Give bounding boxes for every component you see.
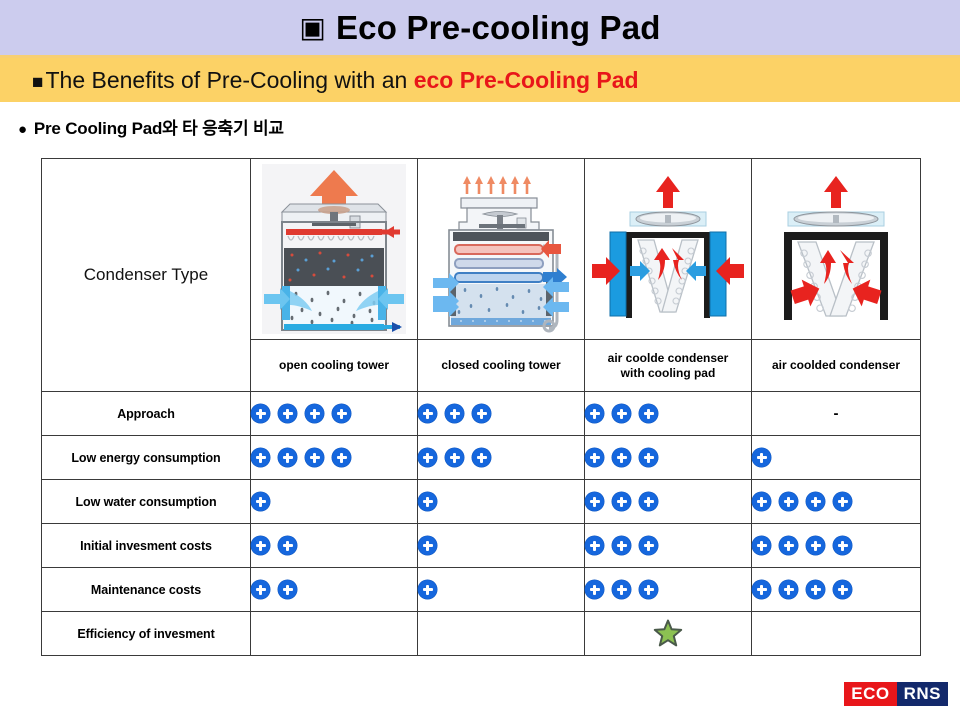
row-label-5: Efficiency of invesment <box>42 612 251 656</box>
cell-r2-c2 <box>585 480 752 524</box>
plus-icon <box>833 580 852 599</box>
plus-icon <box>251 448 270 467</box>
title-bar: ▣Eco Pre-cooling Pad <box>0 0 960 55</box>
rating-badges <box>752 492 920 511</box>
plus-icon <box>305 404 324 423</box>
plus-icon <box>332 448 351 467</box>
table-row: Efficiency of invesment <box>42 612 921 656</box>
benefits-banner: ■The Benefits of Pre-Cooling with an eco… <box>0 55 960 102</box>
diagram-cell-closed-cooling-tower <box>418 159 585 340</box>
row-label-1: Low energy consumption <box>42 436 251 480</box>
plus-icon <box>251 492 270 511</box>
cell-r3-c0 <box>251 524 418 568</box>
column-header-line1: air coolded condenser <box>755 358 917 373</box>
diagram-cell-air-cooled-condenser <box>752 159 921 340</box>
plus-icon <box>585 448 604 467</box>
rating-dash: - <box>752 392 921 436</box>
page-title: ▣Eco Pre-cooling Pad <box>299 9 660 47</box>
rating-badges <box>418 580 584 599</box>
column-header-air-cooled-condenser: air coolded condenser <box>752 340 921 392</box>
cell-r3-c3 <box>752 524 921 568</box>
rating-badges <box>251 536 417 555</box>
plus-icon <box>752 536 771 555</box>
plus-icon <box>779 580 798 599</box>
plus-icon <box>585 404 604 423</box>
diagram-cell-condenser-with-pad <box>585 159 752 340</box>
cell-r4-c1 <box>418 568 585 612</box>
plus-icon <box>445 404 464 423</box>
cell-r1-c3 <box>752 436 921 480</box>
closed-cooling-tower-diagram <box>418 160 584 338</box>
plus-icon <box>585 492 604 511</box>
plus-icon <box>332 404 351 423</box>
plus-icon <box>278 536 297 555</box>
plus-icon <box>251 404 270 423</box>
rating-badges <box>418 492 584 511</box>
column-header-line1: open cooling tower <box>254 358 414 373</box>
cell-r2-c1 <box>418 480 585 524</box>
column-header-condenser-with-pad: air coolde condenser with cooling pad <box>585 340 752 392</box>
plus-icon <box>806 580 825 599</box>
rating-badges <box>251 492 417 511</box>
plus-icon <box>752 448 771 467</box>
cell-r4-c0 <box>251 568 418 612</box>
plus-icon <box>278 580 297 599</box>
plus-icon <box>806 492 825 511</box>
rating-badges <box>418 448 584 467</box>
plus-icon <box>612 580 631 599</box>
star-cell <box>585 612 752 656</box>
banner-text: ■The Benefits of Pre-Cooling with an eco… <box>32 67 639 94</box>
plus-icon <box>612 404 631 423</box>
plus-icon <box>639 404 658 423</box>
column-header-line1: air coolde condenser <box>588 351 748 366</box>
plus-icon <box>472 448 491 467</box>
plus-icon <box>639 580 658 599</box>
subtitle-dot-icon: ● <box>18 121 27 138</box>
column-header-closed-cooling-tower: closed cooling tower <box>418 340 585 392</box>
plus-icon <box>612 448 631 467</box>
plus-icon <box>752 492 771 511</box>
plus-icon <box>418 492 437 511</box>
cell-r4-c3 <box>752 568 921 612</box>
plus-icon <box>639 448 658 467</box>
plus-icon <box>418 580 437 599</box>
cell-empty-r5-c3 <box>752 612 921 656</box>
plus-icon <box>418 448 437 467</box>
table-row: Maintenance costs <box>42 568 921 612</box>
rating-badges <box>585 536 751 555</box>
rating-badges <box>752 580 920 599</box>
plus-icon <box>278 404 297 423</box>
logo-rns-text: RNS <box>897 682 948 706</box>
air-cooled-condenser-diagram <box>752 160 920 338</box>
rating-badges <box>251 404 417 423</box>
column-header-line2: with cooling pad <box>588 366 748 381</box>
table-row: Initial invesment costs <box>42 524 921 568</box>
eco-rns-logo: ECO RNS <box>844 682 948 706</box>
cell-r3-c1 <box>418 524 585 568</box>
cell-r1-c1 <box>418 436 585 480</box>
cell-r2-c3 <box>752 480 921 524</box>
plus-icon <box>779 492 798 511</box>
plus-icon <box>445 448 464 467</box>
plus-icon <box>585 536 604 555</box>
cell-r0-c1 <box>418 392 585 436</box>
rating-badges <box>585 448 751 467</box>
cell-r0-c2 <box>585 392 752 436</box>
row-label-2: Low water consumption <box>42 480 251 524</box>
cell-r4-c2 <box>585 568 752 612</box>
subtitle-label: Pre Cooling Pad와 타 응축기 비교 <box>34 119 284 138</box>
logo-eco-text: ECO <box>844 682 896 706</box>
plus-icon <box>833 536 852 555</box>
row-label-3: Initial invesment costs <box>42 524 251 568</box>
table-row: Approach- <box>42 392 921 436</box>
cell-r0-c0 <box>251 392 418 436</box>
diagram-cell-open-cooling-tower <box>251 159 418 340</box>
comparison-table: Condenser Type <box>41 158 921 656</box>
rating-badges <box>585 580 751 599</box>
rating-badges <box>585 492 751 511</box>
open-cooling-tower-diagram <box>251 160 417 338</box>
rating-badges <box>752 536 920 555</box>
rating-badges <box>251 448 417 467</box>
rating-badges <box>251 580 417 599</box>
plus-icon <box>251 536 270 555</box>
table-row: Low water consumption <box>42 480 921 524</box>
plus-icon <box>639 492 658 511</box>
cell-empty-r5-c0 <box>251 612 418 656</box>
plus-icon <box>418 404 437 423</box>
plus-icon <box>833 492 852 511</box>
cell-empty-r5-c1 <box>418 612 585 656</box>
plus-icon <box>612 536 631 555</box>
rating-badges <box>585 404 751 423</box>
row-label-0: Approach <box>42 392 251 436</box>
star-icon <box>653 619 683 648</box>
cell-r2-c0 <box>251 480 418 524</box>
plus-icon <box>752 580 771 599</box>
diagram-row: Condenser Type <box>42 159 921 340</box>
section-subtitle: ●Pre Cooling Pad와 타 응축기 비교 <box>18 114 284 139</box>
title-bullet-icon: ▣ <box>299 12 326 43</box>
plus-icon <box>806 536 825 555</box>
plus-icon <box>278 448 297 467</box>
condenser-type-header: Condenser Type <box>42 159 251 392</box>
banner-plain-text: The Benefits of Pre-Cooling with an <box>45 67 413 93</box>
title-label: Eco Pre-cooling Pad <box>336 9 661 46</box>
rating-badges <box>752 448 920 467</box>
row-label-4: Maintenance costs <box>42 568 251 612</box>
banner-accent-text: eco Pre-Cooling Pad <box>414 67 639 93</box>
plus-icon <box>472 404 491 423</box>
plus-icon <box>779 536 798 555</box>
plus-icon <box>418 536 437 555</box>
air-cooled-condenser-with-pad-diagram <box>585 160 751 338</box>
rating-badges <box>418 404 584 423</box>
banner-square-icon: ■ <box>32 72 43 93</box>
table-row: Low energy consumption <box>42 436 921 480</box>
cell-r3-c2 <box>585 524 752 568</box>
plus-icon <box>251 580 270 599</box>
cell-r1-c0 <box>251 436 418 480</box>
column-header-open-cooling-tower: open cooling tower <box>251 340 418 392</box>
rating-badges <box>418 536 584 555</box>
plus-icon <box>305 448 324 467</box>
column-header-line1: closed cooling tower <box>421 358 581 373</box>
plus-icon <box>585 580 604 599</box>
cell-r1-c2 <box>585 436 752 480</box>
plus-icon <box>612 492 631 511</box>
plus-icon <box>639 536 658 555</box>
